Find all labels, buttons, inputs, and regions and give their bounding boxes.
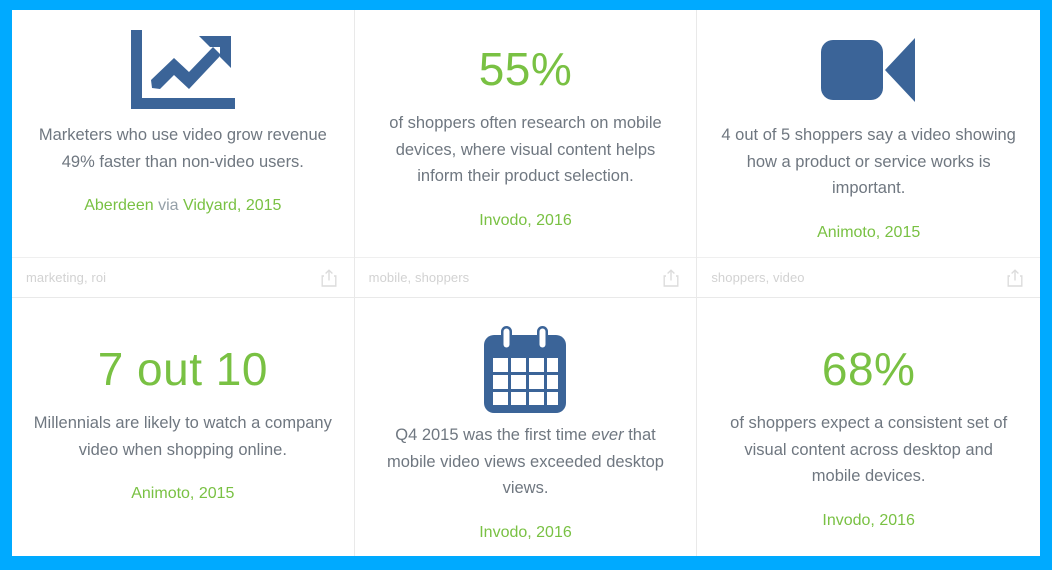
card-source: Invodo, 2016 <box>822 510 915 532</box>
card-footer: shoppers, video <box>697 257 1040 297</box>
source-outlet: Animoto, 2015 <box>817 224 920 241</box>
stat-card[interactable]: Q4 2015 was the first time ever that mob… <box>355 298 698 556</box>
card-body: Marketers who use video grow revenue 49%… <box>30 20 336 257</box>
source-outlet: Animoto, 2015 <box>131 485 234 502</box>
source-outlet: Invodo, 2016 <box>479 524 572 541</box>
card-body: Q4 2015 was the first time ever that mob… <box>373 308 679 556</box>
card-source: Animoto, 2015 <box>817 222 920 244</box>
statement-text: of shoppers often research on mobile dev… <box>389 114 661 185</box>
card-statement: 4 out of 5 shoppers say a video showing … <box>719 122 1019 202</box>
source-outlet: Invodo, 2016 <box>479 212 572 229</box>
card-tags[interactable]: shoppers, video <box>711 270 804 285</box>
statement-text: Q4 2015 was the first time ever that mob… <box>387 426 664 497</box>
source-connector: via <box>154 197 183 214</box>
card-source: Invodo, 2016 <box>479 522 572 544</box>
source-publisher: Aberdeen <box>84 197 153 214</box>
stat-card[interactable]: 4 out of 5 shoppers say a video showing … <box>697 10 1040 298</box>
card-tags[interactable]: mobile, shoppers <box>369 270 470 285</box>
page-frame: Marketers who use video grow revenue 49%… <box>0 0 1052 570</box>
card-stat-number: 55% <box>479 24 573 110</box>
source-outlet: Invodo, 2016 <box>822 512 915 529</box>
statement-text: Millennials are likely to watch a compan… <box>34 414 332 459</box>
card-tags[interactable]: marketing, roi <box>26 270 106 285</box>
card-footer: mobile, shoppers <box>355 257 697 297</box>
card-statement: Millennials are likely to watch a compan… <box>33 410 333 463</box>
card-source: Animoto, 2015 <box>131 483 234 505</box>
card-body: 4 out of 5 shoppers say a video showing … <box>715 20 1022 257</box>
card-stat-number: 68% <box>822 324 916 410</box>
card-body: 7 out 10 Millennials are likely to watch… <box>30 308 336 556</box>
statement-text: 4 out of 5 shoppers say a video showing … <box>721 126 1015 197</box>
share-icon[interactable] <box>660 267 682 289</box>
card-source: Invodo, 2016 <box>479 210 572 232</box>
stat-card[interactable]: 55% of shoppers often research on mobile… <box>355 10 698 298</box>
card-body: 68% of shoppers expect a consistent set … <box>715 308 1022 556</box>
stat-card[interactable]: Marketers who use video grow revenue 49%… <box>12 10 355 298</box>
card-statement: Marketers who use video grow revenue 49%… <box>33 122 333 175</box>
statement-text: Marketers who use video grow revenue 49%… <box>39 126 327 171</box>
calendar-icon <box>482 324 568 416</box>
source-outlet: Vidyard, 2015 <box>183 197 281 214</box>
stat-card-grid: Marketers who use video grow revenue 49%… <box>12 10 1040 556</box>
stat-card[interactable]: 7 out 10 Millennials are likely to watch… <box>12 298 355 556</box>
share-icon[interactable] <box>1004 267 1026 289</box>
stat-card[interactable]: 68% of shoppers expect a consistent set … <box>697 298 1040 556</box>
statement-text: of shoppers expect a consistent set of v… <box>730 414 1007 485</box>
card-body: 55% of shoppers often research on mobile… <box>373 20 679 257</box>
line-chart-growth-icon <box>127 24 239 116</box>
card-statement: of shoppers expect a consistent set of v… <box>719 410 1019 490</box>
video-camera-icon <box>821 24 917 116</box>
share-icon[interactable] <box>318 267 340 289</box>
card-stat-number: 7 out 10 <box>98 324 268 410</box>
card-statement: Q4 2015 was the first time ever that mob… <box>375 422 675 502</box>
card-source: Aberdeen via Vidyard, 2015 <box>84 195 281 217</box>
card-statement: of shoppers often research on mobile dev… <box>375 110 675 190</box>
card-footer: marketing, roi <box>12 257 354 297</box>
